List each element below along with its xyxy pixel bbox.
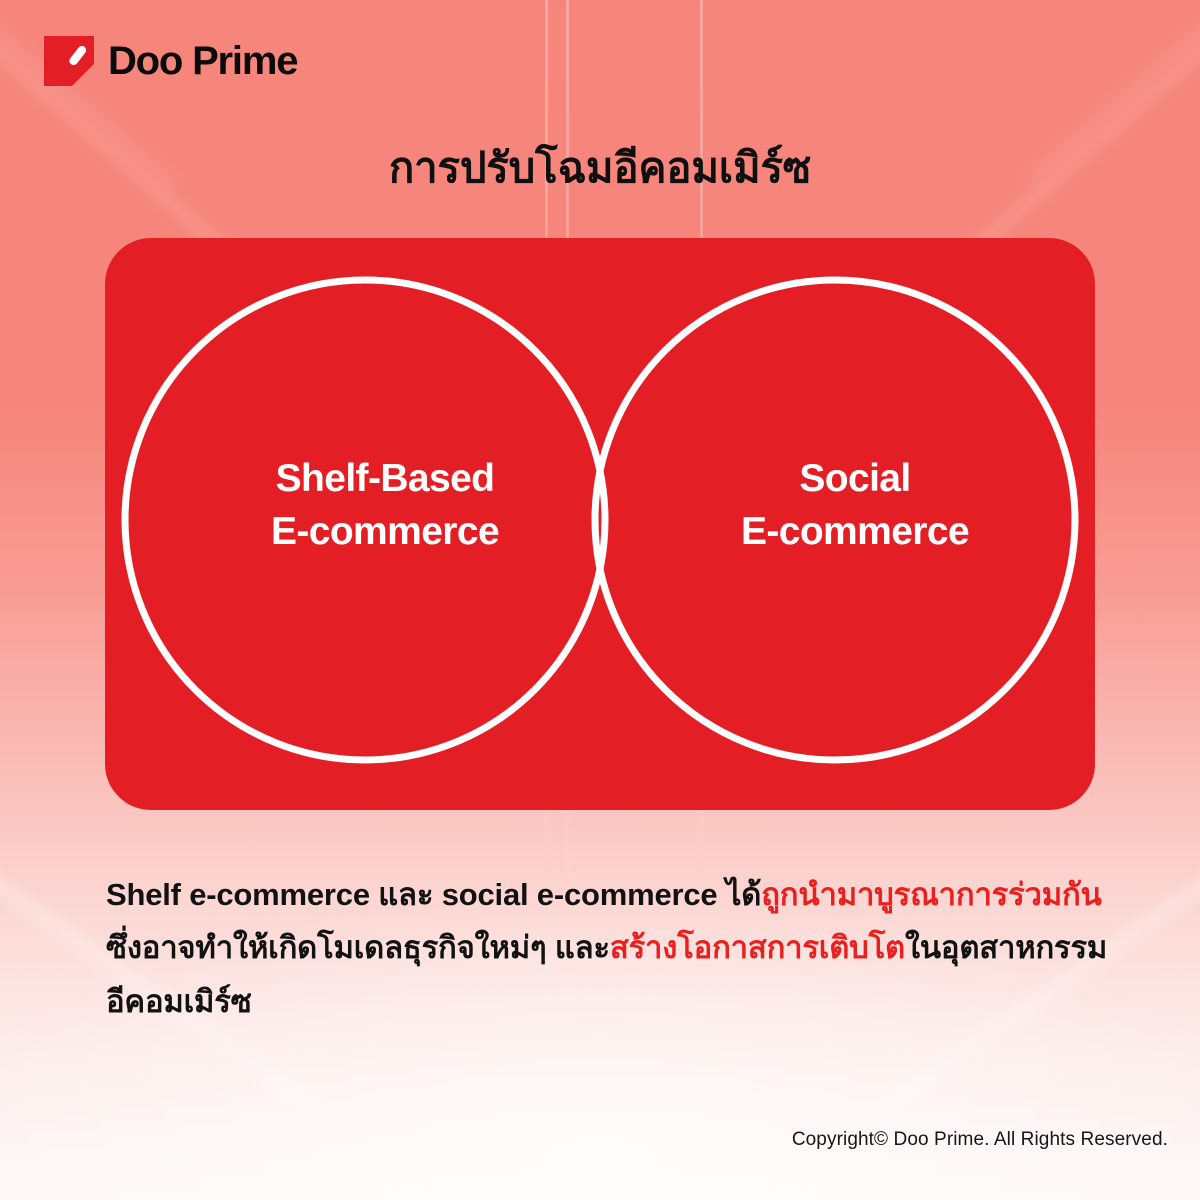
venn-left-circle-label: Shelf-Based E-commerce bbox=[145, 453, 625, 558]
body-segment-2-highlight: ถูกนำมาบูรณาการร่วมกัน bbox=[761, 877, 1101, 912]
brand-logo: Doo Prime bbox=[44, 36, 297, 86]
doo-prime-logo-mark-icon bbox=[44, 36, 94, 86]
venn-diagram-card: Shelf-Based E-commerce Social E-commerce bbox=[105, 238, 1095, 810]
page-title: การปรับโฉมอีคอมเมิร์ซ bbox=[0, 142, 1200, 195]
body-segment-4-highlight: สร้างโอกาสการเติบโต bbox=[610, 930, 905, 965]
venn-right-circle-label: Social E-commerce bbox=[615, 453, 1095, 558]
poster-content: Doo Prime การปรับโฉมอีคอมเมิร์ซ Shelf-Ba… bbox=[0, 0, 1200, 1200]
body-segment-1: Shelf e-commerce และ social e-commerce ไ… bbox=[106, 877, 761, 912]
body-paragraph: Shelf e-commerce และ social e-commerce ไ… bbox=[106, 868, 1116, 1028]
copyright-notice: Copyright© Doo Prime. All Rights Reserve… bbox=[792, 1129, 1168, 1151]
body-segment-3: ซึ่งอาจทำให้เกิดโมเดลธุรกิจใหม่ๆ และ bbox=[106, 930, 610, 965]
brand-name: Doo Prime bbox=[108, 41, 297, 81]
